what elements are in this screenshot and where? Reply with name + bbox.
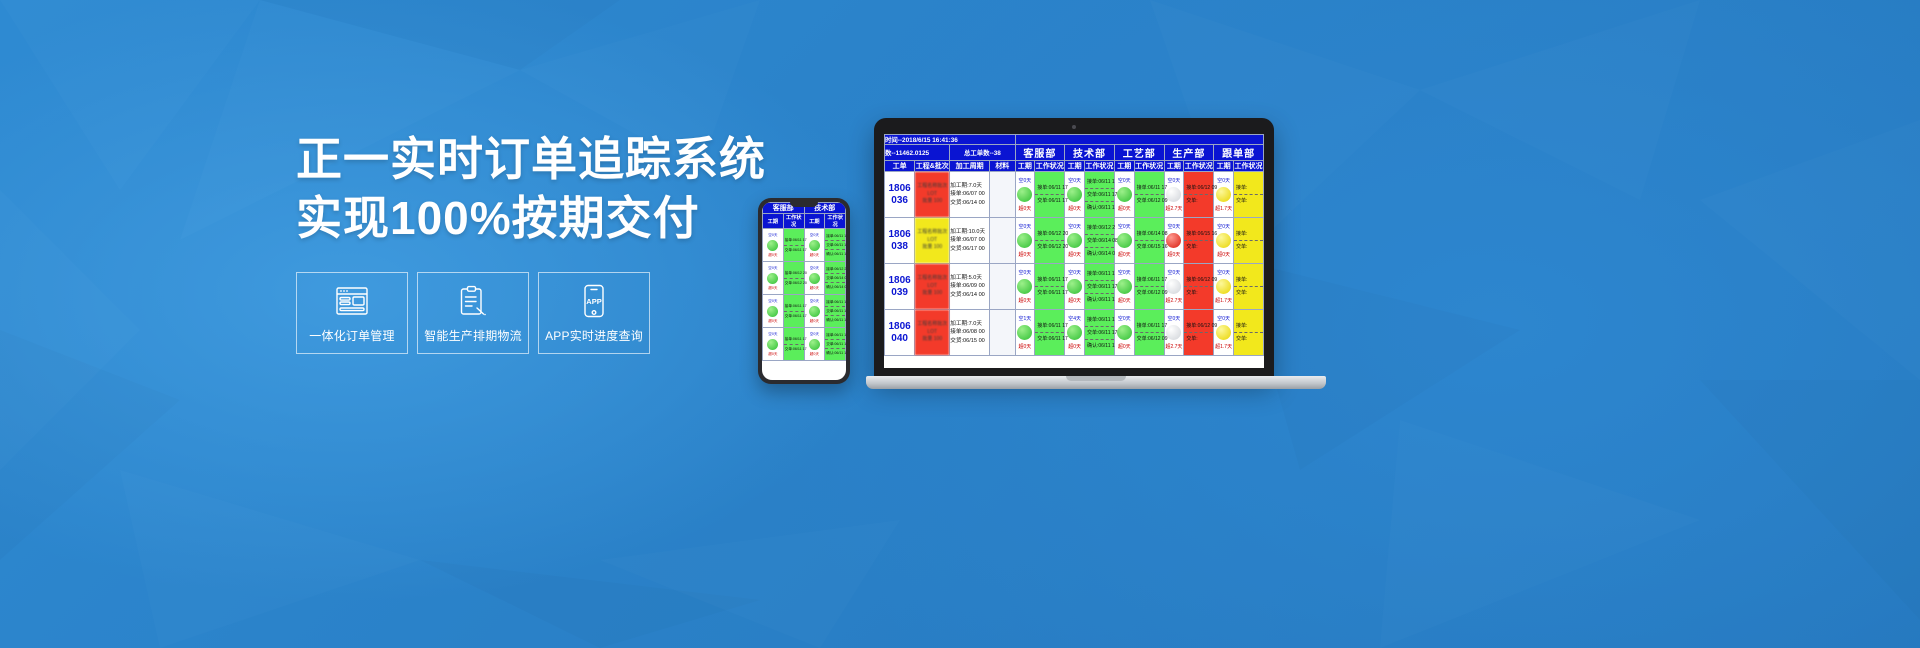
work-order-line-2: 040: [885, 333, 914, 345]
duration-cell-content: 空0天超0天: [1065, 222, 1084, 259]
subcolumn-5-2: 工作状况: [1233, 161, 1263, 172]
duration-cell-content: 空0天超0天: [1016, 222, 1035, 259]
cycle-line-1: 加工期:7.0天: [950, 182, 989, 191]
phone-duration-content: 空0天超0天: [763, 299, 783, 324]
phone-status-line-1: 接单:06/11 17: [825, 298, 845, 306]
duration-cell-7: 空0天超2.7天: [1164, 172, 1184, 218]
project-line: 工程名称批次: [915, 229, 949, 237]
subcolumn-1-2: 工作状况: [1035, 161, 1065, 172]
subcolumn-2-1: 工期: [1065, 161, 1085, 172]
work-status-cell-4: 接单:06/11 17交单:06/11 17确认:06/11 17: [1084, 310, 1114, 356]
cycle-line-3: 交货:06/14 00: [950, 291, 989, 300]
duration-cell-content: 空0天超0天: [1065, 176, 1084, 213]
project-batch-cell: 工程名称批次LOT批量 100: [915, 172, 950, 218]
status-line-2: 交单:06/12 20: [1035, 240, 1064, 253]
phone-duration-content: 空0天超0天: [805, 233, 825, 258]
phone-work-status-cell-4: 接单:06/11 17交单:06/11 17确认:06/11 17: [825, 295, 846, 328]
idle-days-tag: 空0天: [1065, 222, 1084, 231]
column-header-row: 工单工程&批次加工周期材料工期工作状况工期工作状况工期工作状况工期工作状况工期工…: [885, 161, 1264, 172]
mobile-device-mockup: 客服部技术部工期工作状况工期工作状况空0天超0天接单:06/11 17交单:06…: [758, 198, 850, 384]
duration-cell-content: 空0天超0天: [1115, 176, 1134, 213]
phone-table-row[interactable]: 空0天超0天接单:06/11 17交单:06/11 17空0天超0天接单:06/…: [763, 328, 846, 361]
duration-cell-content: 空0天超0天: [1065, 268, 1084, 305]
duration-cell-content: 空0天超0天: [1016, 176, 1035, 213]
order-tracking-table: 时间--2018/6/15 16:41:36数--11462.0125总工单数-…: [884, 134, 1264, 356]
phone-status-indicator-g: [809, 339, 820, 350]
project-line: 批量 100: [915, 198, 949, 206]
webcam-icon: [1072, 125, 1076, 129]
phone-status-line-1: 接单:06/12 20: [784, 269, 804, 277]
duration-cell-9: 空0天超1.7天: [1214, 310, 1234, 356]
idle-days-tag: 空0天: [1214, 222, 1233, 231]
duration-cell-content: 空0天超0天: [1214, 222, 1233, 259]
work-order-cell: 1806036: [885, 172, 915, 218]
overdue-days-tag: 超0天: [1016, 296, 1035, 305]
feature-label: APP实时进度查询: [545, 327, 643, 344]
status-line-1: 接单:06/11 17: [1085, 268, 1114, 280]
status-line-1: 接单:: [1234, 274, 1263, 286]
status-indicator-w: [1166, 325, 1181, 340]
project-line: 工程名称批次: [915, 183, 949, 191]
phone-status-line-3: 确认:06/11 17: [825, 249, 845, 258]
department-header-5: 跟单部: [1214, 145, 1264, 161]
overdue-days-tag: 超0天: [1016, 250, 1035, 259]
phone-duration-cell-3: 空0天超0天: [804, 262, 825, 295]
status-indicator-g: [1067, 233, 1082, 248]
meta-filler-top: [1015, 135, 1263, 145]
idle-days-tag: 空0天: [1214, 176, 1233, 185]
phone-status-line-2: 交单:06/14 08: [825, 273, 845, 282]
duration-cell-content: 空0天超0天: [1016, 268, 1035, 305]
processing-cycle-cell: 加工期:10.0天接单:06/07 00交货:06/17 00: [950, 218, 990, 264]
department-header-2: 技术部: [1065, 145, 1115, 161]
phone-status-indicator-g: [809, 306, 820, 317]
cycle-line-2: 接单:06/07 00: [950, 190, 989, 199]
status-line-2: 交单:06/12 09: [1135, 332, 1164, 345]
subcolumn-4-2: 工作状况: [1184, 161, 1214, 172]
phone-status-line-2: 交单:06/11 17: [825, 240, 845, 249]
laptop-screen[interactable]: 时间--2018/6/15 16:41:36数--11462.0125总工单数-…: [884, 134, 1264, 368]
phone-table-row[interactable]: 空0天超0天接单:06/11 17交单:06/11 17空0天超0天接单:06/…: [763, 295, 846, 328]
work-status-cell-6: 接单:06/11 17交单:06/12 09: [1134, 310, 1164, 356]
duration-cell-3: 空0天超0天: [1065, 264, 1085, 310]
status-line-3: 确认:06/11 17: [1085, 339, 1114, 352]
idle-days-tag: 空0天: [1065, 268, 1084, 277]
overdue-days-tag: 超0天: [1115, 204, 1134, 213]
duration-cell-5: 空0天超0天: [1114, 264, 1134, 310]
duration-cell-content: 空0天超0天: [1165, 222, 1184, 259]
table-row[interactable]: 1806038工程名称批次LOT批量 100加工期:10.0天接单:06/07 …: [885, 218, 1264, 264]
processing-cycle-cell: 加工期:7.0天接单:06/07 00交货:06/14 00: [950, 172, 990, 218]
phone-duration-cell-3: 空0天超0天: [804, 295, 825, 328]
phone-notch: [790, 202, 818, 207]
work-order-line-1: 1806: [885, 183, 914, 195]
cycle-line-1: 加工期:10.0天: [950, 228, 989, 237]
status-line-2: 交单:: [1234, 240, 1263, 253]
idle-days-tag: 空0天: [1016, 176, 1035, 185]
phone-status-line-3: 确认:06/14 08: [825, 282, 845, 291]
phone-column-header-row: 工期工作状况工期工作状况: [763, 214, 846, 229]
promo-banner: 正一实时订单追踪系统 实现100%按期交付: [0, 0, 1920, 648]
duration-cell-9: 空0天超1.7天: [1214, 264, 1234, 310]
duration-cell-content: 空1天超0天: [1016, 314, 1035, 351]
material-cell: [990, 172, 1015, 218]
phone-work-status-cell-2: 接单:06/11 17交单:06/11 17: [783, 328, 804, 361]
duration-cell-3: 空4天超0天: [1065, 310, 1085, 356]
mobile-app-icon: APP: [581, 281, 607, 321]
status-line-1: 接单:06/11 17: [1085, 314, 1114, 326]
department-header-4: 生产部: [1164, 145, 1214, 161]
app-icon-text: APP: [586, 297, 601, 306]
window-layout-icon: [335, 281, 369, 321]
work-order-cell: 1806040: [885, 310, 915, 356]
status-indicator-y: [1216, 187, 1231, 202]
duration-cell-3: 空0天超0天: [1065, 218, 1085, 264]
phone-overdue-days-tag: 超0天: [805, 286, 825, 291]
overdue-days-tag: 超0天: [1016, 342, 1035, 351]
phone-overdue-days-tag: 超0天: [763, 319, 783, 324]
phone-duration-cell-1: 空0天超0天: [763, 295, 784, 328]
project-line: 批量 100: [915, 290, 949, 298]
duration-cell-1: 空1天超0天: [1015, 310, 1035, 356]
work-order-line-2: 039: [885, 287, 914, 299]
idle-days-tag: 空0天: [1065, 176, 1084, 185]
duration-cell-7: 空0天超0天: [1164, 218, 1184, 264]
phone-duration-content: 空0天超0天: [805, 266, 825, 291]
work-status-cell-2: 接单:06/12 20交单:06/12 20: [1035, 218, 1065, 264]
duration-cell-content: 空4天超0天: [1065, 314, 1084, 351]
project-line: 批量 100: [915, 336, 949, 344]
order-number-label: 数--11462.0125: [885, 145, 950, 161]
phone-overdue-days-tag: 超0天: [805, 319, 825, 324]
material-cell: [990, 310, 1015, 356]
work-order-cell: 1806038: [885, 218, 915, 264]
overdue-days-tag: 超1.7天: [1214, 204, 1233, 213]
column-header-3: 加工周期: [950, 161, 990, 172]
status-indicator-y: [1216, 233, 1231, 248]
phone-table-row[interactable]: 空0天超0天接单:06/12 20交单:06/12 20空0天超0天接单:06/…: [763, 262, 846, 295]
duration-cell-9: 空0天超0天: [1214, 218, 1234, 264]
duration-cell-content: 空0天超1.7天: [1214, 314, 1233, 351]
laptop-lid: 时间--2018/6/15 16:41:36数--11462.0125总工单数-…: [874, 118, 1274, 380]
duration-cell-content: 空0天超0天: [1115, 268, 1134, 305]
status-indicator-g: [1117, 233, 1132, 248]
work-status-cell-4: 接单:06/12 20交单:06/14 08确认:06/14 08: [1084, 218, 1114, 264]
duration-cell-content: 空0天超2.7天: [1165, 176, 1184, 213]
status-line-2: 交单:06/11 17: [1035, 332, 1064, 345]
phone-idle-days-tag: 空0天: [805, 233, 825, 238]
phone-work-status-cell-2: 接单:06/11 17交单:06/11 17: [783, 295, 804, 328]
status-indicator-g: [1017, 233, 1032, 248]
status-indicator-g: [1117, 279, 1132, 294]
work-status-cell-2: 接单:06/11 17交单:06/11 17: [1035, 310, 1065, 356]
feature-label: 智能生产排期物流: [424, 327, 522, 344]
subcolumn-4-1: 工期: [1164, 161, 1184, 172]
phone-status-indicator-g: [767, 240, 778, 251]
work-status-cell-8: 接单:06/15 16交单:: [1184, 218, 1214, 264]
phone-duration-content: 空0天超0天: [763, 332, 783, 357]
project-line: 批量 100: [915, 244, 949, 252]
status-indicator-y: [1216, 325, 1231, 340]
phone-overdue-days-tag: 超0天: [805, 352, 825, 357]
idle-days-tag: 空1天: [1016, 314, 1035, 323]
phone-work-status-cell-4: 接单:06/11 17交单:06/11 17确认:06/11 17: [825, 328, 846, 361]
phone-body: 客服部技术部工期工作状况工期工作状况空0天超0天接单:06/11 17交单:06…: [758, 198, 850, 384]
status-line-2: 交单:: [1234, 194, 1263, 207]
status-line-1: 接单:06/12 20: [1085, 222, 1114, 234]
status-indicator-y: [1216, 279, 1231, 294]
meta-row: 时间--2018/6/15 16:41:36: [885, 135, 1264, 145]
phone-subcolumn-1-2: 工作状况: [783, 214, 804, 229]
material-cell: [990, 218, 1015, 264]
department-header-1: 客服部: [1015, 145, 1065, 161]
subcolumn-1-1: 工期: [1015, 161, 1035, 172]
status-indicator-g: [1067, 325, 1082, 340]
overdue-days-tag: 超0天: [1065, 296, 1084, 305]
work-order-cell: 1806039: [885, 264, 915, 310]
duration-cell-9: 空0天超1.7天: [1214, 172, 1234, 218]
phone-status-line-1: 接单:06/11 17: [784, 302, 804, 310]
status-line-2: 交单:06/11 17: [1035, 286, 1064, 299]
duration-cell-content: 空0天超1.7天: [1214, 268, 1233, 305]
idle-days-tag: 空0天: [1115, 222, 1134, 231]
phone-overdue-days-tag: 超0天: [763, 286, 783, 291]
duration-cell-content: 空0天超0天: [1115, 222, 1134, 259]
status-line-2: 交单:06/11 17: [1085, 280, 1114, 293]
project-line: 工程名称批次: [915, 275, 949, 283]
work-status-cell-4: 接单:06/11 17交单:06/11 17确认:06/11 17: [1084, 172, 1114, 218]
project-batch-cell: 工程名称批次LOT批量 100: [915, 264, 950, 310]
status-line-1: 接单:06/11 17: [1135, 274, 1164, 286]
work-order-line-1: 1806: [885, 229, 914, 241]
phone-status-indicator-g: [809, 240, 820, 251]
idle-days-tag: 空0天: [1115, 268, 1134, 277]
status-line-3: 确认:06/11 17: [1085, 293, 1114, 306]
status-indicator-w: [1166, 279, 1181, 294]
phone-status-line-2: 交单:06/11 17: [825, 306, 845, 315]
status-line-1: 接单:06/11 17: [1135, 182, 1164, 194]
phone-status-indicator-g: [809, 273, 820, 284]
phone-duration-cell-1: 空0天超0天: [763, 229, 784, 262]
status-line-1: 接单:06/11 17: [1035, 182, 1064, 194]
column-header-4: 材料: [990, 161, 1015, 172]
processing-cycle-cell: 加工期:5.0天接单:06/09 00交货:06/14 00: [950, 264, 990, 310]
duration-cell-7: 空0天超2.7天: [1164, 310, 1184, 356]
work-status-cell-10: 接单:交单:: [1233, 264, 1263, 310]
timestamp-label: 时间--2018/6/15 16:41:36: [885, 135, 1016, 145]
phone-overdue-days-tag: 超0天: [805, 253, 825, 258]
status-line-2: 交单:06/11 17: [1035, 194, 1064, 207]
phone-duration-cell-1: 空0天超0天: [763, 262, 784, 295]
duration-cell-5: 空0天超0天: [1114, 172, 1134, 218]
work-order-line-1: 1806: [885, 275, 914, 287]
laptop-base-notch: [1066, 376, 1126, 381]
overdue-days-tag: 超2.7天: [1165, 342, 1184, 351]
column-header-1: 工单: [885, 161, 915, 172]
meta-row-2: 数--11462.0125总工单数--38客服部技术部工艺部生产部跟单部: [885, 145, 1264, 161]
status-indicator-r: [1166, 233, 1181, 248]
status-line-2: 交单:06/12 09: [1135, 194, 1164, 207]
cycle-line-2: 接单:06/09 00: [950, 282, 989, 291]
overdue-days-tag: 超2.7天: [1165, 204, 1184, 213]
status-indicator-g: [1017, 279, 1032, 294]
phone-status-line-3: 确认:06/11 17: [825, 348, 845, 357]
duration-cell-1: 空0天超0天: [1015, 264, 1035, 310]
status-line-1: 接单:06/15 16: [1184, 228, 1213, 240]
processing-cycle-cell: 加工期:7.0天接单:06/08 00交货:06/15 00: [950, 310, 990, 356]
idle-days-tag: 空0天: [1016, 222, 1035, 231]
idle-days-tag: 空0天: [1165, 314, 1184, 323]
feature-card-app-progress-query[interactable]: APP APP实时进度查询: [538, 272, 650, 354]
phone-duration-content: 空0天超0天: [763, 266, 783, 291]
status-line-2: 交单:06/15 16: [1135, 240, 1164, 253]
work-order-line-1: 1806: [885, 321, 914, 333]
phone-duration-content: 空0天超0天: [805, 299, 825, 324]
feature-label: 一体化订单管理: [309, 327, 394, 344]
work-status-cell-4: 接单:06/11 17交单:06/11 17确认:06/11 17: [1084, 264, 1114, 310]
status-line-2: 交单:: [1184, 332, 1213, 345]
phone-work-status-cell-2: 接单:06/12 20交单:06/12 20: [783, 262, 804, 295]
subcolumn-5-1: 工期: [1214, 161, 1234, 172]
phone-idle-days-tag: 空0天: [805, 266, 825, 271]
phone-idle-days-tag: 空0天: [763, 233, 783, 238]
phone-duration-content: 空0天超0天: [763, 233, 783, 258]
phone-work-status-cell-4: 接单:06/12 20交单:06/14 08确认:06/14 08: [825, 262, 846, 295]
subcolumn-2-2: 工作状况: [1084, 161, 1114, 172]
laptop-device-mockup: 时间--2018/6/15 16:41:36数--11462.0125总工单数-…: [866, 118, 1326, 418]
status-line-1: 接单:06/11 17: [1035, 320, 1064, 332]
duration-cell-1: 空0天超0天: [1015, 218, 1035, 264]
status-line-2: 交单:: [1234, 286, 1263, 299]
status-indicator-w: [1166, 187, 1181, 202]
overdue-days-tag: 超0天: [1214, 250, 1233, 259]
status-line-2: 交单:06/14 08: [1085, 234, 1114, 247]
phone-status-line-2: 交单:06/11 17: [784, 245, 804, 254]
feature-card-order-management[interactable]: 一体化订单管理: [296, 272, 408, 354]
status-line-1: 接单:06/12 09: [1184, 274, 1213, 286]
status-line-2: 交单:: [1184, 286, 1213, 299]
headline-line-1: 正一实时订单追踪系统: [296, 130, 916, 189]
phone-screen[interactable]: 客服部技术部工期工作状况工期工作状况空0天超0天接单:06/11 17交单:06…: [762, 202, 846, 380]
idle-days-tag: 空0天: [1115, 176, 1134, 185]
phone-work-status-cell-2: 接单:06/11 17交单:06/11 17: [783, 229, 804, 262]
phone-status-line-1: 接单:06/11 17: [825, 331, 845, 339]
work-status-cell-6: 接单:06/11 17交单:06/12 09: [1134, 264, 1164, 310]
table-row[interactable]: 1806039工程名称批次LOT批量 100加工期:5.0天接单:06/09 0…: [885, 264, 1264, 310]
phone-subcolumn-2-2: 工作状况: [825, 214, 846, 229]
status-line-2: 交单:06/11 17: [1085, 188, 1114, 201]
column-header-2: 工程&批次: [915, 161, 950, 172]
phone-idle-days-tag: 空0天: [805, 299, 825, 304]
cycle-line-2: 接单:06/07 00: [950, 236, 989, 245]
phone-status-indicator-g: [767, 273, 778, 284]
duration-cell-content: 空0天超1.7天: [1214, 176, 1233, 213]
total-orders-label: 总工单数--38: [950, 145, 1015, 161]
idle-days-tag: 空0天: [1214, 268, 1233, 277]
work-status-cell-10: 接单:交单:: [1233, 218, 1263, 264]
overdue-days-tag: 超0天: [1115, 250, 1134, 259]
phone-status-line-2: 交单:06/12 20: [784, 278, 804, 287]
status-line-1: 接单:06/12 09: [1184, 320, 1213, 332]
department-header-3: 工艺部: [1114, 145, 1164, 161]
phone-subcolumn-2-1: 工期: [804, 214, 825, 229]
work-status-cell-2: 接单:06/11 17交单:06/11 17: [1035, 264, 1065, 310]
subcolumn-3-1: 工期: [1114, 161, 1134, 172]
phone-table-row[interactable]: 空0天超0天接单:06/11 17交单:06/11 17空0天超0天接单:06/…: [763, 229, 846, 262]
work-status-cell-8: 接单:06/12 09交单:: [1184, 172, 1214, 218]
status-line-2: 交单:: [1184, 240, 1213, 253]
phone-duration-cell-3: 空0天超0天: [804, 328, 825, 361]
overdue-days-tag: 超2.7天: [1165, 296, 1184, 305]
overdue-days-tag: 超0天: [1115, 342, 1134, 351]
status-line-2: 交单:: [1234, 332, 1263, 345]
phone-subcolumn-1-1: 工期: [763, 214, 784, 229]
phone-status-line-2: 交单:06/11 17: [825, 339, 845, 348]
status-indicator-g: [1067, 187, 1082, 202]
idle-days-tag: 空0天: [1165, 222, 1184, 231]
phone-status-line-3: 确认:06/11 17: [825, 315, 845, 324]
overdue-days-tag: 超1.7天: [1214, 296, 1233, 305]
duration-cell-3: 空0天超0天: [1065, 172, 1085, 218]
duration-cell-5: 空0天超0天: [1114, 310, 1134, 356]
phone-status-line-1: 接单:06/11 17: [784, 335, 804, 343]
phone-order-table: 客服部技术部工期工作状况工期工作状况空0天超0天接单:06/11 17交单:06…: [762, 202, 846, 361]
status-line-1: 接单:06/11 17: [1135, 320, 1164, 332]
status-indicator-g: [1117, 325, 1132, 340]
work-order-line-2: 036: [885, 195, 914, 207]
clipboard-checklist-icon: [458, 281, 488, 321]
phone-status-line-1: 接单:06/11 17: [825, 232, 845, 240]
work-status-cell-8: 接单:06/12 09交单:: [1184, 264, 1214, 310]
overdue-days-tag: 超1.7天: [1214, 342, 1233, 351]
status-indicator-g: [1017, 187, 1032, 202]
status-line-1: 接单:06/12 20: [1035, 228, 1064, 240]
status-line-1: 接单:: [1234, 320, 1263, 332]
table-row[interactable]: 1806040工程名称批次LOT批量 100加工期:7.0天接单:06/08 0…: [885, 310, 1264, 356]
idle-days-tag: 空0天: [1115, 314, 1134, 323]
phone-status-line-2: 交单:06/11 17: [784, 344, 804, 353]
status-line-1: 接单:06/12 09: [1184, 182, 1213, 194]
phone-idle-days-tag: 空0天: [763, 299, 783, 304]
duration-cell-7: 空0天超2.7天: [1164, 264, 1184, 310]
work-status-cell-10: 接单:交单:: [1233, 310, 1263, 356]
table-row[interactable]: 1806036工程名称批次LOT批量 100加工期:7.0天接单:06/07 0…: [885, 172, 1264, 218]
phone-status-line-2: 交单:06/11 17: [784, 311, 804, 320]
phone-work-status-cell-4: 接单:06/11 17交单:06/11 17确认:06/11 17: [825, 229, 846, 262]
phone-idle-days-tag: 空0天: [763, 332, 783, 337]
status-line-3: 确认:06/14 08: [1085, 247, 1114, 260]
status-indicator-g: [1117, 187, 1132, 202]
work-order-line-2: 038: [885, 241, 914, 253]
cycle-line-2: 接单:06/08 00: [950, 328, 989, 337]
status-line-2: 交单:06/12 09: [1135, 286, 1164, 299]
phone-status-line-1: 接单:06/11 17: [784, 236, 804, 244]
duration-cell-content: 空0天超2.7天: [1165, 268, 1184, 305]
feature-card-production-scheduling[interactable]: 智能生产排期物流: [417, 272, 529, 354]
duration-cell-5: 空0天超0天: [1114, 218, 1134, 264]
phone-idle-days-tag: 空0天: [763, 266, 783, 271]
idle-days-tag: 空0天: [1165, 268, 1184, 277]
phone-duration-cell-1: 空0天超0天: [763, 328, 784, 361]
phone-duration-content: 空0天超0天: [805, 332, 825, 357]
phone-overdue-days-tag: 超0天: [763, 253, 783, 258]
work-status-cell-6: 接单:06/14 08交单:06/15 16: [1134, 218, 1164, 264]
overdue-days-tag: 超0天: [1065, 342, 1084, 351]
idle-days-tag: 空0天: [1214, 314, 1233, 323]
idle-days-tag: 空0天: [1165, 176, 1184, 185]
phone-status-indicator-g: [767, 339, 778, 350]
status-line-1: 接单:06/11 17: [1085, 176, 1114, 188]
